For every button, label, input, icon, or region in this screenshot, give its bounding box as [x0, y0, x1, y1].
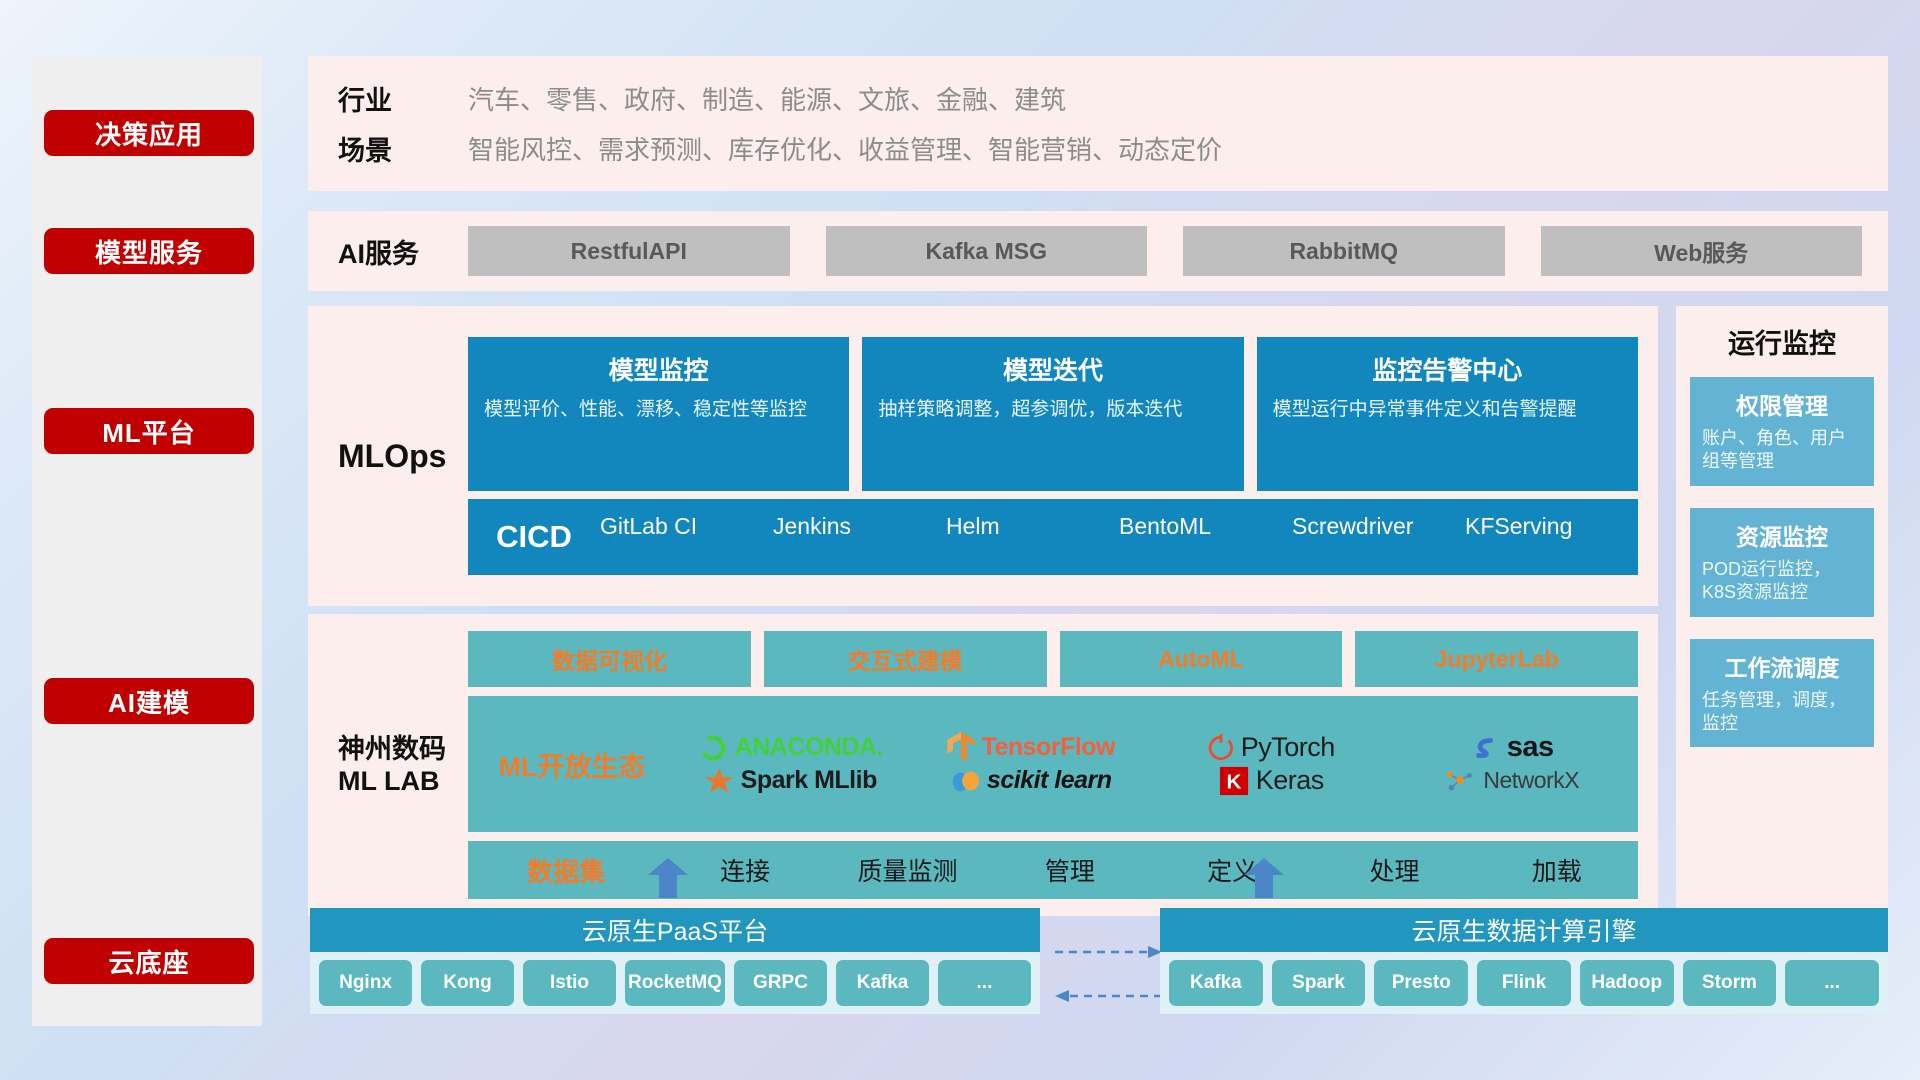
layer-badge-ml-platform[interactable]: ML平台: [44, 408, 254, 454]
cloud-compute-group: 云原生数据计算引擎 Kafka Spark Presto Flink Hadoo…: [1160, 908, 1888, 1014]
dataset-label: 数据集: [468, 852, 664, 889]
logo-label: ANACONDA.: [735, 733, 883, 762]
card-desc: 任务管理，调度，监控: [1702, 689, 1862, 736]
layer-badge-label: AI建模: [108, 683, 190, 720]
ai-service-label: AI服务: [338, 232, 468, 271]
cloud-chip-more[interactable]: ...: [938, 960, 1031, 1006]
logo-label: NetworkX: [1483, 767, 1579, 794]
ml-lab-label-line1: 神州数码: [338, 733, 468, 765]
cicd-item-bentoml[interactable]: BentoML: [1119, 513, 1292, 539]
mlops-card-list: 模型监控 模型评价、性能、漂移、稳定性等监控 模型迭代 抽样策略调整，超参调优，…: [468, 337, 1638, 491]
cicd-item-helm[interactable]: Helm: [946, 513, 1119, 539]
dataset-row: 数据集 连接 质量监测 管理 定义 处理 加载: [468, 841, 1638, 899]
ml-open-ecosystem-label: ML开放生态: [474, 745, 670, 784]
cloud-chip-grpc[interactable]: GRPC: [734, 960, 827, 1006]
cicd-bar: CICD GitLab CI Jenkins Helm BentoML Scre…: [468, 499, 1638, 575]
scenario-values: 智能风控、需求预测、库存优化、收益管理、智能营销、动态定价: [468, 130, 1222, 167]
card-desc: 抽样策略调整，超参调优，版本迭代: [878, 397, 1227, 422]
compute-chip-presto[interactable]: Presto: [1374, 960, 1468, 1006]
cloud-paas-title: 云原生PaaS平台: [310, 908, 1040, 952]
logo-label: sas: [1507, 731, 1554, 764]
ml-open-ecosystem-row: ML开放生态 ANACONDA. Ten: [468, 696, 1638, 832]
service-chip-restfulapi[interactable]: RestfulAPI: [468, 226, 790, 276]
layer-badge-label: ML平台: [102, 413, 196, 450]
industry-values: 汽车、零售、政府、制造、能源、文旅、金融、建筑: [468, 80, 1066, 117]
industry-row: 行业 汽车、零售、政府、制造、能源、文旅、金融、建筑: [338, 74, 1888, 124]
monitor-card-permission[interactable]: 权限管理 账户、角色、用户组等管理: [1690, 377, 1874, 486]
layer-badge-model-service[interactable]: 模型服务: [44, 228, 254, 274]
cicd-item-gitlab-ci[interactable]: GitLab CI: [600, 513, 773, 539]
card-title: 工作流调度: [1702, 649, 1862, 683]
keras-icon: K: [1219, 766, 1249, 796]
sas-icon: [1470, 733, 1500, 763]
compute-chip-more[interactable]: ...: [1785, 960, 1879, 1006]
mlops-label: MLOps: [338, 438, 468, 475]
arrow-up-paas-icon: [646, 858, 690, 898]
anaconda-icon: [698, 733, 728, 763]
dataset-item-list: 连接 质量监测 管理 定义 处理 加载: [664, 852, 1638, 888]
cloud-chip-nginx[interactable]: Nginx: [319, 960, 412, 1006]
cloud-paas-chip-list: Nginx Kong Istio RocketMQ GRPC Kafka ...: [310, 952, 1040, 1014]
dataset-item-quality[interactable]: 质量监测: [826, 852, 988, 888]
card-title: 模型迭代: [878, 351, 1227, 387]
card-title: 资源监控: [1702, 518, 1862, 552]
ai-modeling-band: 神州数码 ML LAB 数据可视化 交互式建模 AutoML JupyterLa…: [308, 614, 1658, 916]
ml-lab-label-line2: ML LAB: [338, 765, 468, 797]
tool-chip-jupyterlab[interactable]: JupyterLab: [1355, 631, 1638, 687]
layer-badge-decision[interactable]: 决策应用: [44, 110, 254, 156]
runtime-monitoring-panel: 运行监控 权限管理 账户、角色、用户组等管理 资源监控 POD运行监控，K8S资…: [1676, 306, 1888, 916]
ai-service-band: AI服务 RestfulAPI Kafka MSG RabbitMQ Web服务: [308, 211, 1888, 291]
layer-badge-label: 云底座: [108, 943, 189, 980]
layer-badge-ai-modeling[interactable]: AI建模: [44, 678, 254, 724]
mlops-card-model-monitoring[interactable]: 模型监控 模型评价、性能、漂移、稳定性等监控: [468, 337, 849, 491]
industry-label: 行业: [338, 79, 468, 118]
monitor-card-resource[interactable]: 资源监控 POD运行监控，K8S资源监控: [1690, 508, 1874, 617]
cloud-paas-group: 云原生PaaS平台 Nginx Kong Istio RocketMQ GRPC…: [310, 908, 1040, 1014]
ecosystem-logo-grid: ANACONDA. TensorFlow: [670, 731, 1632, 797]
spark-star-icon: [704, 766, 734, 796]
logo-label: scikit learn: [987, 766, 1112, 795]
decision-application-band: 行业 汽车、零售、政府、制造、能源、文旅、金融、建筑 场景 智能风控、需求预测、…: [308, 56, 1888, 191]
scikit-learn-icon: [950, 766, 980, 796]
cicd-title: CICD: [468, 519, 600, 555]
layer-rail: 决策应用 模型服务 ML平台 AI建模 云底座: [32, 56, 262, 1026]
tensorflow-icon: [947, 732, 975, 764]
mlops-body: 模型监控 模型评价、性能、漂移、稳定性等监控 模型迭代 抽样策略调整，超参调优，…: [468, 337, 1658, 575]
dataset-item-process[interactable]: 处理: [1313, 852, 1475, 888]
card-title: 权限管理: [1702, 387, 1862, 421]
logo-label: Spark MLlib: [741, 766, 877, 795]
logo-networkx: NetworkX: [1444, 766, 1579, 796]
card-desc: 模型运行中异常事件定义和告警提醒: [1273, 397, 1622, 422]
card-desc: POD运行监控，K8S资源监控: [1702, 558, 1862, 605]
logo-spark-mllib: Spark MLlib: [704, 766, 877, 796]
cicd-item-kfserving[interactable]: KFServing: [1465, 513, 1638, 539]
compute-chip-hadoop[interactable]: Hadoop: [1580, 960, 1674, 1006]
service-chip-web[interactable]: Web服务: [1541, 226, 1863, 276]
scenario-row: 场景 智能风控、需求预测、库存优化、收益管理、智能营销、动态定价: [338, 124, 1888, 174]
cicd-item-jenkins[interactable]: Jenkins: [773, 513, 946, 539]
logo-anaconda: ANACONDA.: [698, 733, 883, 763]
card-title: 模型监控: [484, 351, 833, 387]
dataset-item-load[interactable]: 加载: [1476, 852, 1638, 888]
logo-sas: sas: [1470, 731, 1554, 764]
cloud-chip-kong[interactable]: Kong: [421, 960, 514, 1006]
logo-label: TensorFlow: [982, 733, 1115, 762]
logo-keras: K Keras: [1219, 765, 1324, 796]
tool-chip-data-visualization[interactable]: 数据可视化: [468, 631, 751, 687]
logo-label: Keras: [1256, 765, 1324, 796]
monitor-card-workflow[interactable]: 工作流调度 任务管理，调度，监控: [1690, 639, 1874, 748]
compute-chip-flink[interactable]: Flink: [1477, 960, 1571, 1006]
card-desc: 模型评价、性能、漂移、稳定性等监控: [484, 397, 833, 422]
cloud-compute-chip-list: Kafka Spark Presto Flink Hadoop Storm ..…: [1160, 952, 1888, 1014]
mlops-card-alert-center[interactable]: 监控告警中心 模型运行中异常事件定义和告警提醒: [1257, 337, 1638, 491]
scenario-label: 场景: [338, 129, 468, 168]
mlops-card-model-iteration[interactable]: 模型迭代 抽样策略调整，超参调优，版本迭代: [862, 337, 1243, 491]
logo-pytorch: PyTorch: [1208, 732, 1335, 763]
ml-lab-label: 神州数码 ML LAB: [338, 733, 468, 798]
arrow-up-compute-icon: [1242, 858, 1286, 898]
cloud-compute-title: 云原生数据计算引擎: [1160, 908, 1888, 952]
tool-chip-interactive-modeling[interactable]: 交互式建模: [764, 631, 1047, 687]
compute-chip-spark[interactable]: Spark: [1272, 960, 1366, 1006]
layer-badge-cloud-base[interactable]: 云底座: [44, 938, 254, 984]
modeling-tool-list: 数据可视化 交互式建模 AutoML JupyterLab: [468, 631, 1638, 687]
svg-text:K: K: [1226, 770, 1241, 793]
layer-badge-label: 模型服务: [95, 233, 203, 270]
dataset-item-define[interactable]: 定义: [1151, 852, 1313, 888]
ai-service-list: RestfulAPI Kafka MSG RabbitMQ Web服务: [468, 226, 1888, 276]
cloud-chip-istio[interactable]: Istio: [523, 960, 616, 1006]
logo-tensorflow: TensorFlow: [947, 732, 1115, 764]
layer-badge-label: 决策应用: [95, 115, 203, 152]
pytorch-icon: [1208, 733, 1234, 763]
cloud-chip-rocketmq[interactable]: RocketMQ: [625, 960, 725, 1006]
service-chip-rabbitmq[interactable]: RabbitMQ: [1183, 226, 1505, 276]
cicd-item-screwdriver[interactable]: Screwdriver: [1292, 513, 1465, 539]
compute-chip-storm[interactable]: Storm: [1683, 960, 1777, 1006]
tool-chip-automl[interactable]: AutoML: [1060, 631, 1343, 687]
paas-compute-connector: [1050, 940, 1165, 1020]
cicd-item-list: GitLab CI Jenkins Helm BentoML Screwdriv…: [600, 499, 1638, 575]
service-chip-kafka-msg[interactable]: Kafka MSG: [826, 226, 1148, 276]
logo-scikit-learn: scikit learn: [950, 766, 1112, 796]
mlops-band: MLOps 模型监控 模型评价、性能、漂移、稳定性等监控 模型迭代 抽样策略调整…: [308, 306, 1658, 606]
cloud-chip-kafka[interactable]: Kafka: [836, 960, 929, 1006]
networkx-icon: [1444, 766, 1476, 796]
card-desc: 账户、角色、用户组等管理: [1702, 427, 1862, 474]
logo-label: PyTorch: [1241, 732, 1335, 763]
runtime-monitoring-title: 运行监控: [1690, 322, 1874, 361]
compute-chip-kafka[interactable]: Kafka: [1169, 960, 1263, 1006]
card-title: 监控告警中心: [1273, 351, 1622, 387]
dataset-item-manage[interactable]: 管理: [989, 852, 1151, 888]
